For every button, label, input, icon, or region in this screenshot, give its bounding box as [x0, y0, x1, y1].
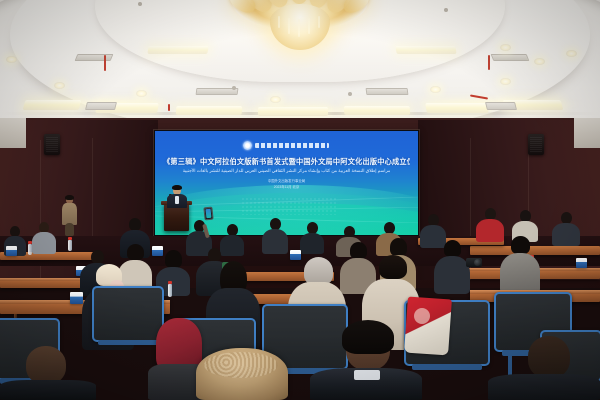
fur-texture	[204, 352, 278, 378]
presenter-at-podium	[167, 186, 187, 208]
sprinkler-head	[444, 8, 448, 12]
lotus-chandelier	[232, 0, 368, 62]
air-vent	[85, 102, 117, 110]
screen-meta-line: 2023年11月 北京	[169, 185, 404, 190]
audience-member	[32, 222, 56, 254]
screen-subtitle-arabic: مراسم إطلاق النسخة العربية من كتاب وإنشا…	[169, 168, 404, 174]
standing-attendant	[62, 196, 78, 236]
torso-tweed	[500, 253, 540, 294]
audience-member	[500, 238, 540, 294]
hair-grey	[304, 257, 333, 285]
bottle-cap	[28, 241, 32, 244]
right-wall-cornice	[574, 118, 600, 148]
hair	[444, 240, 461, 257]
delegate-name-card	[6, 246, 17, 256]
hair	[172, 185, 182, 190]
ceiling-troffer	[23, 100, 82, 110]
audience-member	[434, 242, 470, 294]
logo-wordmark	[255, 143, 329, 148]
chair-frame	[412, 364, 482, 370]
hair-dark	[379, 255, 407, 279]
audience-member	[300, 222, 324, 254]
recessed-downlight	[136, 90, 147, 97]
legs	[65, 223, 74, 236]
red-sprinkler-pipe	[104, 55, 106, 71]
phone-screen	[206, 209, 212, 218]
recessed-downlight	[6, 56, 17, 63]
wall-speaker	[528, 134, 544, 155]
smartphone-recording	[203, 207, 213, 221]
chandelier-crystal	[298, 19, 300, 37]
air-vent	[491, 54, 530, 61]
audience-member	[476, 208, 504, 242]
red-sprinkler-pipe	[488, 55, 490, 70]
recessed-downlight	[430, 86, 441, 93]
air-vent	[366, 88, 409, 95]
hair	[390, 238, 407, 256]
water-bottle	[28, 244, 32, 255]
chandelier-crystal	[308, 18, 310, 34]
chandelier-crystal	[278, 16, 280, 28]
audience-member	[488, 336, 600, 400]
ceiling-troffer	[147, 46, 208, 54]
ceiling-troffer	[395, 46, 456, 54]
screen-title: 《第三辑》中文阿拉伯文版新书首发式暨中国外文局中阿文化出版中心成立仪式	[163, 157, 410, 166]
logo-mark-icon	[243, 141, 252, 150]
ceiling-troffer	[176, 106, 243, 115]
left-wall-cornice	[0, 118, 26, 148]
torso	[552, 223, 580, 246]
torso-tan-coat	[62, 203, 77, 225]
conference-hall-photo: 《第三辑》中文阿拉伯文版新书首发式暨中国外文局中阿文化出版中心成立仪式 مراس…	[0, 0, 600, 400]
head	[208, 248, 221, 262]
water-bottle	[168, 284, 172, 297]
recessed-downlight	[500, 44, 511, 51]
ceiling-troffer	[425, 103, 489, 113]
torso	[262, 229, 288, 254]
head	[528, 336, 570, 378]
scarf-pattern	[414, 308, 430, 324]
hair	[342, 320, 394, 354]
recessed-downlight	[54, 82, 65, 89]
hair	[65, 195, 74, 200]
screen-meta-line: 中国外文出版发行事业局	[169, 179, 404, 184]
ceiling-troffer	[258, 107, 328, 116]
recessed-downlight	[566, 50, 577, 57]
recessed-downlight	[534, 58, 545, 65]
air-vent	[75, 54, 114, 61]
audience-member	[0, 346, 96, 400]
red-sprinkler-pipe	[168, 104, 170, 111]
delegate-name-card	[576, 258, 587, 268]
ceiling-troffer	[344, 106, 411, 115]
screen-dot-pattern	[241, 197, 337, 215]
camera-lens	[474, 259, 481, 266]
chandelier-crystal	[288, 18, 290, 34]
wall-speaker	[44, 134, 60, 155]
hair	[165, 250, 182, 268]
chandelier-crystal	[318, 16, 320, 28]
recessed-downlight	[500, 78, 511, 85]
organization-logo	[243, 141, 329, 150]
water-bottle	[68, 240, 72, 251]
bottle-cap	[68, 237, 72, 240]
shirt-collar	[354, 370, 380, 380]
shirt	[175, 196, 179, 204]
sprinkler-head	[138, 2, 142, 6]
bottle-cap	[168, 281, 172, 284]
torso-grey	[32, 232, 56, 254]
torso	[0, 380, 96, 400]
hair	[511, 236, 530, 254]
torso	[488, 374, 600, 400]
man-dark-suit-foreground	[310, 326, 422, 400]
audience-member	[262, 218, 288, 254]
head	[91, 250, 104, 264]
hair	[127, 244, 144, 260]
sprinkler-head	[232, 86, 236, 90]
screen-meta: 中国外文出版发行事业局 2023年11月 北京	[169, 178, 404, 189]
torso	[300, 233, 324, 254]
air-vent	[485, 102, 517, 110]
recessed-downlight	[270, 96, 281, 103]
audience-member	[552, 212, 580, 246]
sprinkler-head	[348, 92, 352, 96]
torso	[434, 256, 470, 294]
dslr-camera	[466, 258, 482, 267]
head	[26, 346, 66, 384]
